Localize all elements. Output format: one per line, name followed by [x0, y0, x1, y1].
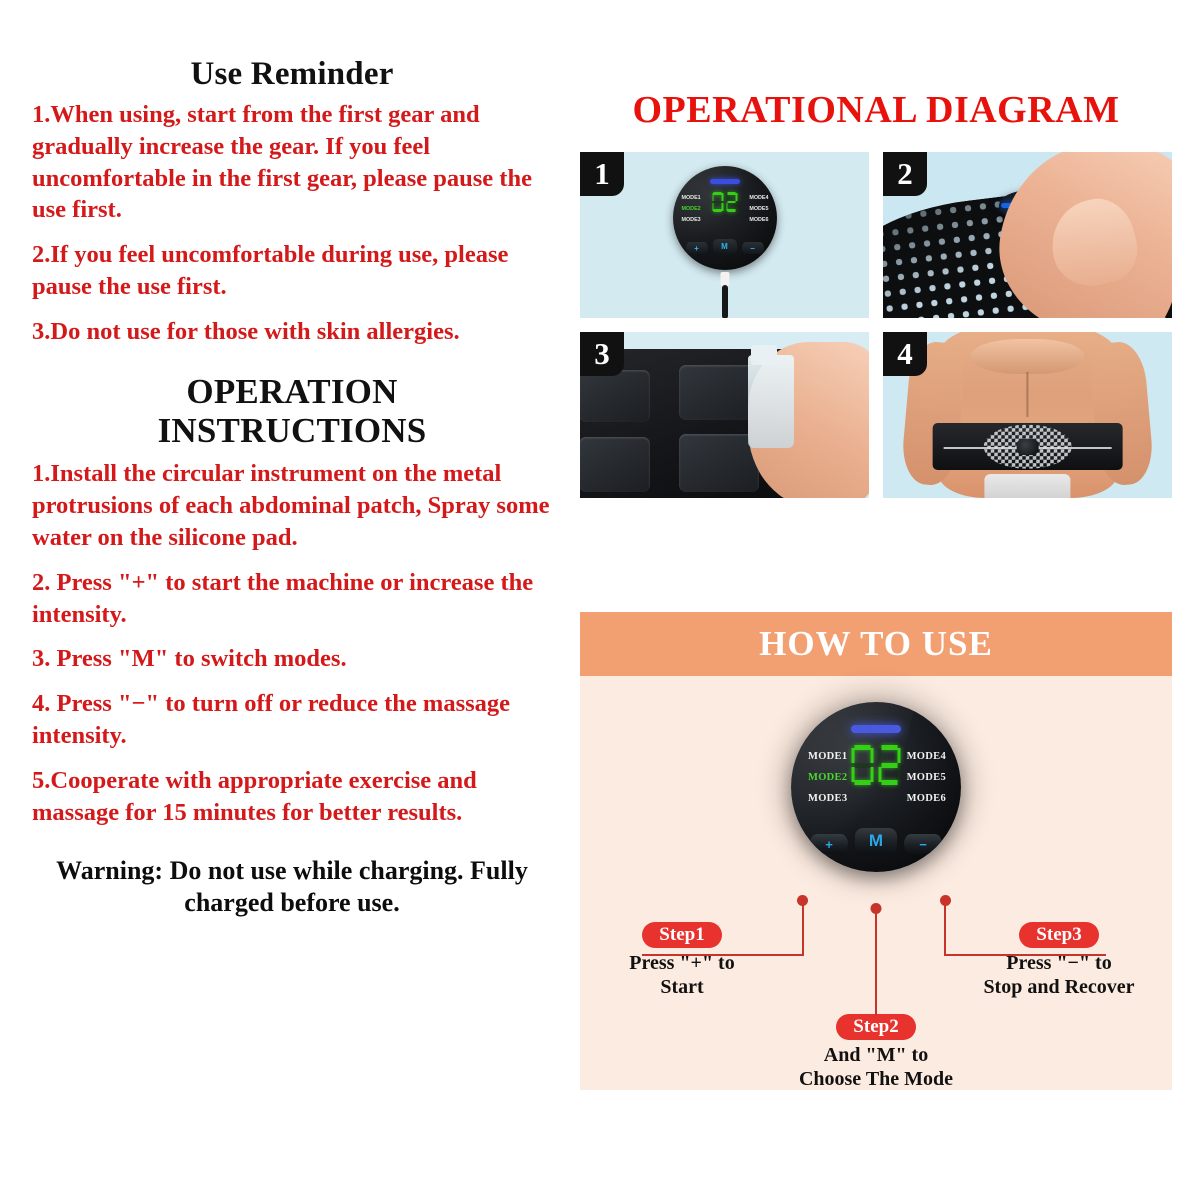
mode-label: MODE5: [749, 204, 768, 215]
mode-label: MODE4: [749, 193, 768, 204]
device-button-row: + M −: [791, 828, 961, 854]
silicone-pad: [679, 365, 760, 420]
step3-callout: Step3 Press "−" to Stop and Recover: [954, 922, 1164, 999]
operation-item-1: 1.Install the circular instrument on the…: [32, 458, 552, 554]
infographic-page: Use Reminder 1.When using, start from th…: [0, 0, 1200, 1200]
step1-line-2: Start: [592, 976, 772, 1000]
step3-line-2: Stop and Recover: [954, 976, 1164, 1000]
leader-line-step1-vertical: [802, 900, 804, 956]
panel-number-badge-4: 4: [883, 332, 927, 376]
silicone-pad: [580, 370, 650, 422]
step2-callout: Step2 And "M" to Choose The Mode: [746, 1014, 1006, 1091]
mode-label-4: MODE4: [907, 746, 946, 767]
diagram-panel-grid: 1 MODE1 MODE2 MODE3 MODE4 MODE5 MODE6: [580, 152, 1172, 498]
step2-text: And "M" to Choose The Mode: [746, 1044, 1006, 1091]
reminder-item-2: 2.If you feel uncomfortable during use, …: [32, 239, 552, 303]
mode-label-1: MODE1: [808, 746, 847, 767]
warning-text: Warning: Do not use while charging. Full…: [32, 855, 552, 920]
leader-line-step2-vertical: [875, 908, 877, 1016]
leader-line-step1-horizontal: [642, 954, 804, 956]
worn-belt: [932, 423, 1123, 469]
minus-button-icon: −: [742, 242, 764, 254]
step2-line-1: And "M" to: [746, 1044, 1006, 1068]
diagram-panel-3: 3: [580, 332, 869, 498]
step3-badge: Step3: [1019, 922, 1098, 948]
mode-labels-right: MODE4 MODE5 MODE6: [907, 746, 946, 809]
spray-bottle: [748, 355, 794, 448]
shorts: [984, 474, 1070, 498]
belt-controller-unit: [1016, 439, 1038, 455]
digit-two-icon: [726, 192, 737, 212]
device-buttons-small: + M −: [673, 239, 777, 254]
mode-labels-left: MODE1 MODE2 MODE3: [808, 746, 847, 809]
abs-centerline: [1026, 372, 1028, 417]
how-to-use-body: MODE1 MODE2 MODE3 MODE4 MODE5 MODE6: [580, 676, 1172, 1090]
mode-label-6: MODE6: [907, 788, 946, 809]
mode-label-active: MODE2: [682, 204, 701, 215]
silicone-pad: [679, 434, 760, 492]
mode-label-5: MODE5: [907, 767, 946, 788]
operation-instructions-title: OPERATION INSTRUCTIONS: [32, 372, 552, 450]
torso-illustration: [938, 332, 1117, 498]
panel-number-badge-3: 3: [580, 332, 624, 376]
minus-button[interactable]: −: [904, 834, 942, 854]
usb-cable: [722, 285, 728, 318]
use-reminder-title: Use Reminder: [32, 56, 552, 93]
how-to-use-title: HOW TO USE: [759, 624, 993, 664]
panel-number-badge-1: 1: [580, 152, 624, 196]
mode-label: MODE1: [682, 193, 701, 204]
controller-device-large: MODE1 MODE2 MODE3 MODE4 MODE5 MODE6: [791, 702, 961, 872]
usb-connector: [720, 272, 729, 286]
mode-labels-left: MODE1 MODE2 MODE3: [682, 193, 701, 226]
operation-title-line-1: OPERATION: [32, 372, 552, 411]
leader-line-step3-vertical: [944, 900, 946, 956]
operation-item-5: 5.Cooperate with appropriate exercise an…: [32, 765, 552, 829]
diagram-panel-2: 2: [883, 152, 1172, 318]
seven-segment-display: [852, 745, 901, 785]
left-text-column: Use Reminder 1.When using, start from th…: [32, 56, 552, 920]
step3-text: Press "−" to Stop and Recover: [954, 952, 1164, 999]
silicone-pad: [580, 437, 650, 492]
spray-nozzle-icon: [751, 345, 777, 365]
leader-line-step3-horizontal: [944, 954, 1106, 956]
controller-device-small: MODE1 MODE2 MODE3 MODE4 MODE5 MODE6: [673, 166, 777, 270]
mode-label-3: MODE3: [808, 788, 847, 809]
plus-button[interactable]: +: [810, 834, 848, 854]
digit-zero-icon: [712, 192, 723, 212]
reminder-item-3: 3.Do not use for those with skin allergi…: [32, 316, 552, 348]
step1-text: Press "+" to Start: [592, 952, 772, 999]
diagram-panel-4: 4: [883, 332, 1172, 498]
digit-zero-icon: [852, 745, 874, 785]
indicator-bar-icon: [710, 179, 740, 184]
mode-button-icon: M: [713, 239, 737, 254]
chest-shading: [970, 339, 1085, 374]
mode-label-2-active: MODE2: [808, 767, 847, 788]
step1-callout: Step1 Press "+" to Start: [592, 922, 772, 999]
operational-diagram-section: OPERATIONAL DIAGRAM 1 MODE1 MODE2 MODE3 …: [580, 62, 1172, 498]
step2-line-2: Choose The Mode: [746, 1068, 1006, 1092]
mode-labels-right: MODE4 MODE5 MODE6: [749, 193, 768, 226]
digit-two-icon: [879, 745, 901, 785]
mode-label: MODE6: [749, 215, 768, 226]
how-to-use-header: HOW TO USE: [580, 612, 1172, 676]
indicator-bar-icon: [851, 725, 901, 733]
thumb-illustration: [1043, 191, 1145, 293]
step2-badge: Step2: [836, 1014, 915, 1040]
operation-title-line-2: INSTRUCTIONS: [32, 411, 552, 450]
reminder-item-1: 1.When using, start from the first gear …: [32, 99, 552, 226]
step1-badge: Step1: [642, 922, 721, 948]
mode-label: MODE3: [682, 215, 701, 226]
plus-button-icon: +: [686, 242, 708, 254]
mode-button[interactable]: M: [855, 828, 897, 854]
how-to-use-section: HOW TO USE MODE1 MODE2 MODE3 MODE4 MODE5…: [580, 612, 1172, 1090]
diagram-panel-1: 1 MODE1 MODE2 MODE3 MODE4 MODE5 MODE6: [580, 152, 869, 318]
panel-number-badge-2: 2: [883, 152, 927, 196]
seven-segment-display-small: [712, 192, 737, 212]
operational-diagram-title: OPERATIONAL DIAGRAM: [580, 88, 1172, 132]
operation-item-4: 4. Press "−" to turn off or reduce the m…: [32, 688, 552, 752]
operation-item-2: 2. Press "+" to start the machine or inc…: [32, 567, 552, 631]
operation-item-3: 3. Press "M" to switch modes.: [32, 643, 552, 675]
